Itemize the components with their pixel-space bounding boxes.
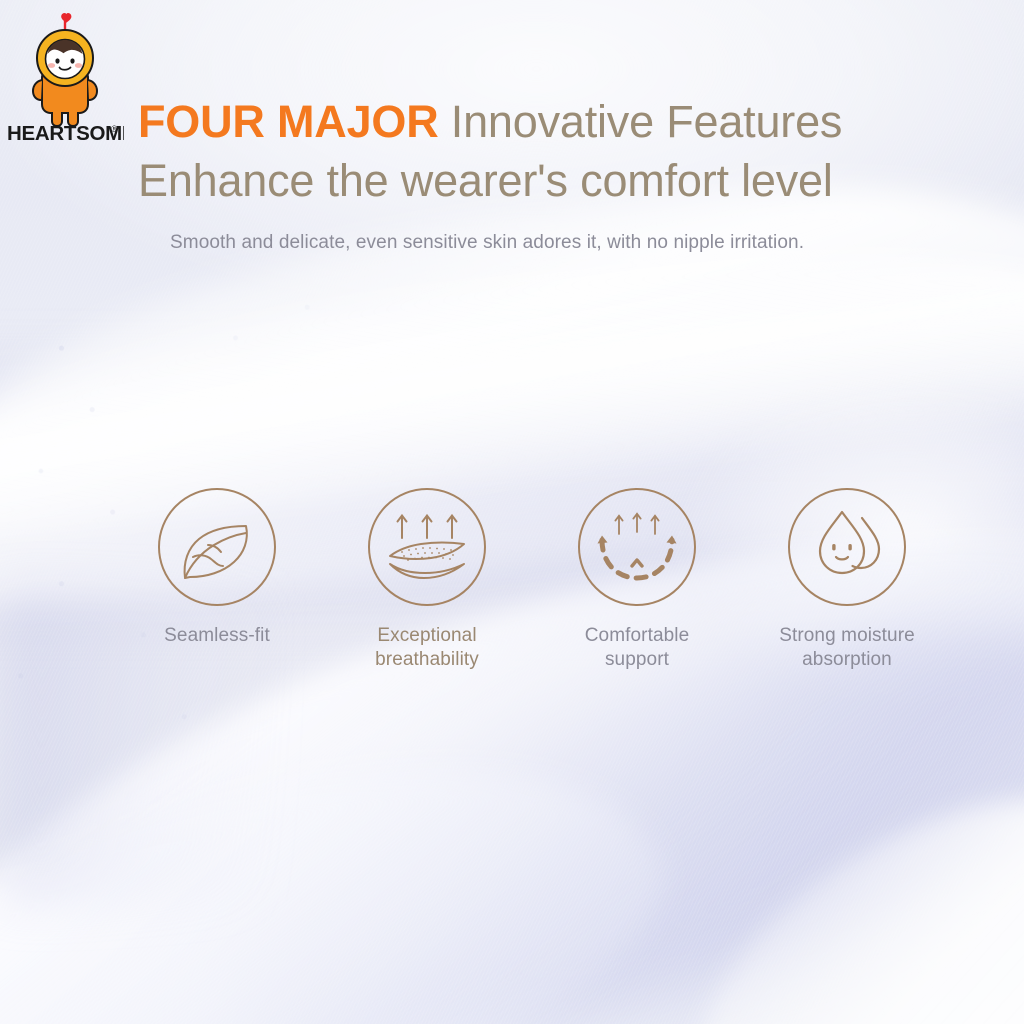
brand-logo: HEARTSOME ® <box>6 4 124 146</box>
logo-wordmark: HEARTSOME <box>7 122 124 145</box>
headline-line2: Enhance the wearer's comfort level <box>138 155 938 207</box>
feature-label-line2: support <box>605 649 669 670</box>
page-title: FOUR MAJOR Innovative Features Enhance t… <box>138 96 938 207</box>
headline-accent: FOUR MAJOR <box>138 96 439 147</box>
feature-label-line1: Comfortable <box>585 625 690 646</box>
supportive-curve-arrows-icon <box>576 486 698 608</box>
feature-label: Strong moisture absorption <box>779 624 915 673</box>
feature-label-line1: Exceptional <box>377 625 476 646</box>
feature-label: Exceptional breathability <box>375 624 479 673</box>
feature-label: Seamless-fit <box>164 624 270 648</box>
feature-label-line1: Strong moisture <box>779 625 915 646</box>
feature-label-line2: absorption <box>802 649 892 670</box>
page-subtitle: Smooth and delicate, even sensitive skin… <box>170 232 804 254</box>
water-droplets-smiling-icon <box>786 486 908 608</box>
feature-label-line2: breathability <box>375 649 479 670</box>
promo-banner: HEARTSOME ® FOUR MAJOR Innovative Featur… <box>0 0 1024 1024</box>
logo-registered-mark: ® <box>111 124 118 134</box>
feature-item-breathability: Exceptional breathability <box>322 486 532 673</box>
leaf-icon <box>156 486 278 608</box>
feature-label: Comfortable support <box>585 624 690 673</box>
breathable-fabric-layers-icon <box>366 486 488 608</box>
feature-item-seamless-fit: Seamless-fit <box>112 486 322 648</box>
feature-list: Seamless-fit <box>112 486 952 673</box>
headline-rest: Innovative Features <box>439 96 843 147</box>
feature-item-moisture: Strong moisture absorption <box>742 486 952 673</box>
feature-item-support: Comfortable support <box>532 486 742 673</box>
